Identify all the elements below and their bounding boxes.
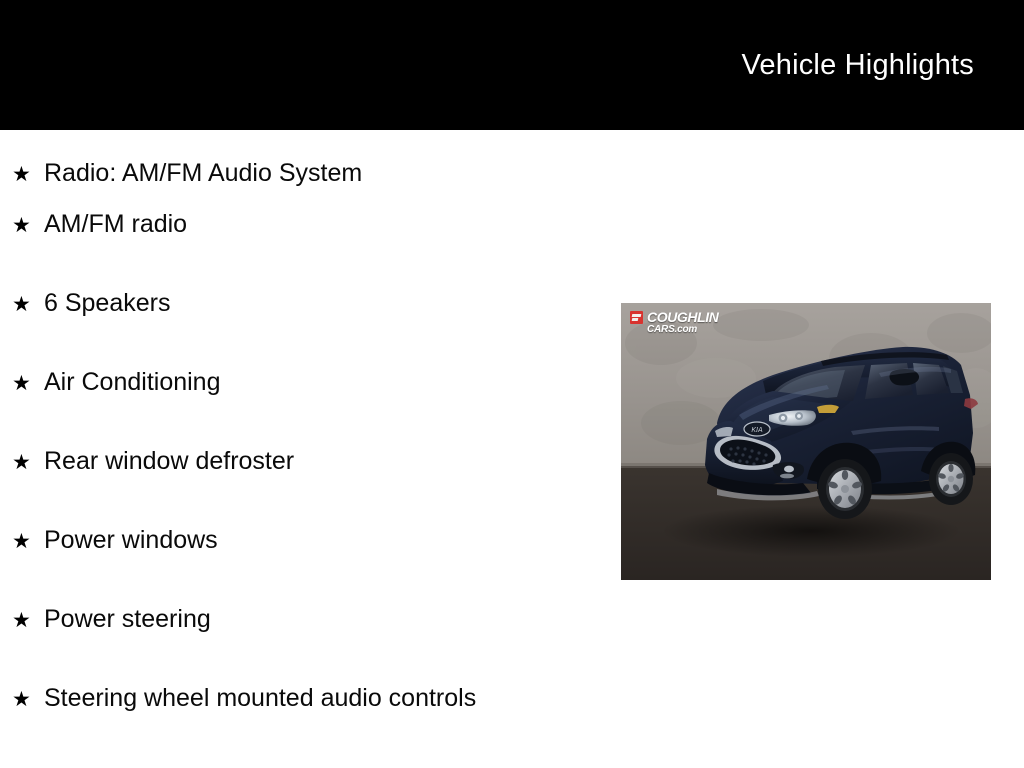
list-item: ★ Power windows xyxy=(0,525,620,604)
star-bullet-icon: ★ xyxy=(12,450,44,476)
list-item-label: Steering wheel mounted audio controls xyxy=(44,683,476,713)
star-bullet-icon: ★ xyxy=(12,371,44,397)
list-item-label: Radio: AM/FM Audio System xyxy=(44,158,362,188)
star-bullet-icon: ★ xyxy=(12,608,44,634)
list-item: ★ Air Conditioning xyxy=(0,367,620,446)
star-bullet-icon: ★ xyxy=(12,213,44,239)
list-item: ★ Steering wheel mounted audio controls xyxy=(0,683,620,762)
header-bar: Vehicle Highlights xyxy=(0,0,1024,130)
vehicle-photo-image: KIA xyxy=(621,303,991,580)
list-item: ★ 6 Speakers xyxy=(0,288,620,367)
list-item-label: Power windows xyxy=(44,525,218,555)
list-item: ★ Power steering xyxy=(0,604,620,683)
list-item-label: 6 Speakers xyxy=(44,288,170,318)
list-item: ★ Rear window defroster xyxy=(0,446,620,525)
vehicle-highlights-list: ★ Radio: AM/FM Audio System ★ AM/FM radi… xyxy=(0,130,620,762)
page-title: Vehicle Highlights xyxy=(741,48,974,82)
star-bullet-icon: ★ xyxy=(12,687,44,713)
list-item-label: Rear window defroster xyxy=(44,446,294,476)
list-item-label: AM/FM radio xyxy=(44,209,187,239)
list-item-label: Air Conditioning xyxy=(44,367,221,397)
list-item-label: Power steering xyxy=(44,604,211,634)
svg-text:KIA: KIA xyxy=(751,427,763,434)
star-bullet-icon: ★ xyxy=(12,529,44,555)
star-bullet-icon: ★ xyxy=(12,292,44,318)
vehicle-photo: KIA xyxy=(621,303,991,580)
list-item: ★ Radio: AM/FM Audio System xyxy=(0,130,620,209)
star-bullet-icon: ★ xyxy=(12,162,44,188)
list-item: ★ AM/FM radio xyxy=(0,209,620,288)
